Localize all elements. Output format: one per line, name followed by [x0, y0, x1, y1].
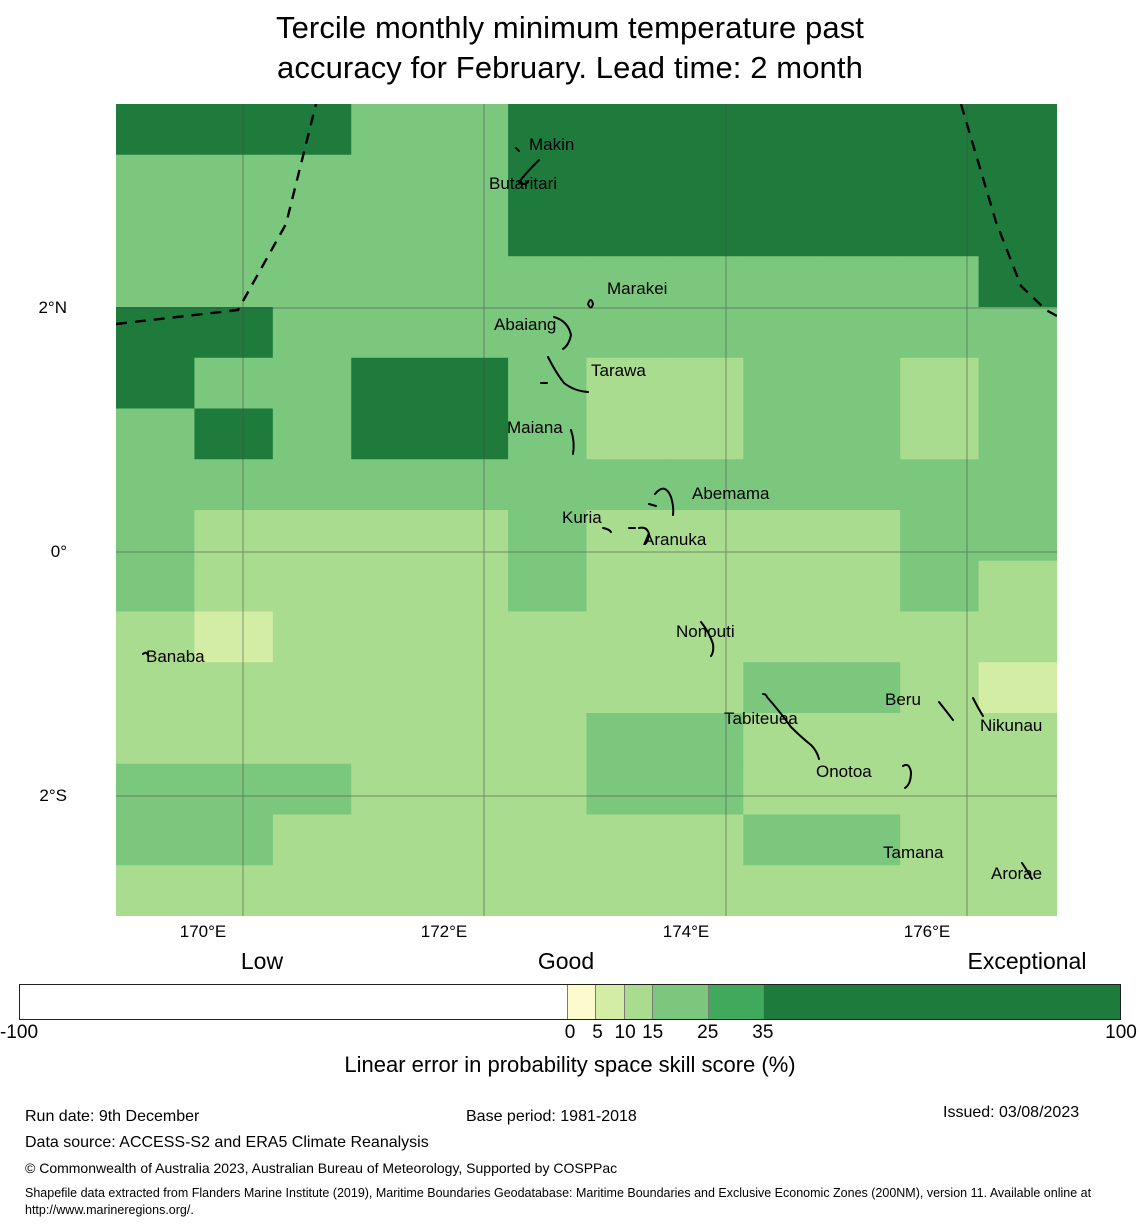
heatmap-cell [351, 764, 430, 815]
heatmap-cell [743, 104, 822, 155]
heatmap-cell [822, 104, 901, 155]
heatmap-cell [743, 510, 822, 561]
heatmap-cell [194, 358, 273, 409]
heatmap-cell [743, 409, 822, 460]
heatmap-cell [273, 815, 352, 866]
island-label-tarawa: Tarawa [591, 361, 646, 380]
island-label-nikunau: Nikunau [980, 716, 1042, 735]
heatmap-cell [273, 865, 352, 916]
island-label-makin: Makin [529, 135, 574, 154]
heatmap-cell [194, 510, 273, 561]
heatmap-cell [508, 662, 587, 713]
island-label-marakei: Marakei [607, 279, 667, 298]
heatmap-cell [587, 459, 666, 510]
issued-date-text: Issued: 03/08/2023 [943, 1104, 1079, 1122]
colorbar-tick-labels: -1000510152535100 [0, 1022, 1140, 1046]
heatmap-cell [743, 307, 822, 358]
heatmap-cell [822, 256, 901, 307]
heatmap-cell [822, 409, 901, 460]
heatmap-cell [587, 409, 666, 460]
colorbar-segment-10-15 [624, 985, 652, 1019]
heatmap-cell [273, 358, 352, 409]
heatmap-cell [351, 612, 430, 663]
heatmap-cell [508, 561, 587, 612]
colorbar-category-good: Good [446, 948, 686, 975]
heatmap-cell [273, 459, 352, 510]
heatmap-cell [743, 561, 822, 612]
heatmap-cell [194, 865, 273, 916]
heatmap-cell [979, 104, 1057, 155]
heatmap-cell [194, 206, 273, 257]
heatmap-cell [430, 256, 509, 307]
heatmap-cell [116, 256, 195, 307]
heatmap-cell [587, 561, 666, 612]
heatmap-cell [979, 307, 1057, 358]
footer-row-2: Data source: ACCESS-S2 and ERA5 Climate … [0, 1134, 1140, 1160]
heatmap-cell [116, 358, 195, 409]
heatmap-cell [351, 409, 430, 460]
heatmap-cell [116, 459, 195, 510]
heatmap-cell [822, 612, 901, 663]
colorbar-tick-100: 100 [1061, 1022, 1140, 1044]
xtick-label-172e: 172°E [384, 922, 504, 942]
heatmap-cell [116, 409, 195, 460]
heatmap-cell [822, 155, 901, 206]
heatmap-cell [430, 815, 509, 866]
heatmap-cell [273, 409, 352, 460]
heatmap-cell [273, 256, 352, 307]
island-label-abemama: Abemama [692, 484, 770, 503]
heatmap-cell [116, 561, 195, 612]
heatmap-cell [665, 104, 744, 155]
title-line-1: Tercile monthly minimum temperature past [0, 8, 1140, 48]
heatmap-cell [116, 662, 195, 713]
heatmap-cell [822, 206, 901, 257]
heatmap-cell [430, 561, 509, 612]
heatmap-cell [273, 155, 352, 206]
colorbar-axis-title: Linear error in probability space skill … [0, 1052, 1140, 1078]
copyright-text: © Commonwealth of Australia 2023, Austra… [25, 1160, 617, 1176]
heatmap-cell [508, 865, 587, 916]
heatmap-cell [979, 612, 1057, 663]
heatmap-cell [822, 358, 901, 409]
heatmap-cell [430, 612, 509, 663]
heatmap-cell [194, 612, 273, 663]
heatmap-cell [665, 865, 744, 916]
heatmap-cell [273, 662, 352, 713]
heatmap-cell [979, 358, 1057, 409]
skill-score-heatmap: MakinButaritariMarakeiAbaiangTarawaMaian… [116, 104, 1057, 916]
footer-row-3: © Commonwealth of Australia 2023, Austra… [0, 1160, 1140, 1186]
heatmap-cell [194, 713, 273, 764]
shapefile-attribution-text: Shapefile data extracted from Flanders M… [25, 1185, 1130, 1219]
heatmap-cell [194, 459, 273, 510]
heatmap-cell [822, 713, 901, 764]
heatmap-cell [273, 713, 352, 764]
island-label-maiana: Maiana [507, 418, 563, 437]
heatmap-cell [430, 510, 509, 561]
heatmap-cell [665, 155, 744, 206]
heatmap-cell [194, 307, 273, 358]
colorbar[interactable] [19, 984, 1121, 1020]
heatmap-cell [508, 815, 587, 866]
heatmap-cell [665, 764, 744, 815]
colorbar-segment--100-0 [20, 985, 567, 1019]
heatmap-cell [116, 865, 195, 916]
heatmap-cell [743, 815, 822, 866]
island-label-arorae: Arorae [991, 864, 1042, 883]
footer-row-1: Run date: 9th December Base period: 1981… [0, 1108, 1140, 1134]
heatmap-cell [351, 713, 430, 764]
heatmap-cell [273, 612, 352, 663]
heatmap-cell [508, 612, 587, 663]
heatmap-cell [665, 561, 744, 612]
heatmap-cell [743, 662, 822, 713]
heatmap-cell [743, 865, 822, 916]
heatmap-cell [116, 307, 195, 358]
heatmap-cell [351, 206, 430, 257]
heatmap-cell [116, 713, 195, 764]
heatmap-cell [351, 459, 430, 510]
colorbar-category-exceptional: Exceptional [907, 948, 1140, 975]
heatmap-cell [979, 155, 1057, 206]
heatmap-cell [508, 256, 587, 307]
heatmap-cell [587, 764, 666, 815]
heatmap-cell [587, 662, 666, 713]
colorbar-category-labels: Low Good Exceptional [0, 948, 1140, 978]
base-period-text: Base period: 1981-2018 [466, 1108, 637, 1126]
heatmap-cell [665, 206, 744, 257]
island-label-tamana: Tamana [883, 843, 944, 862]
heatmap-cell [665, 307, 744, 358]
heatmap-cell [351, 865, 430, 916]
island-label-butaritari: Butaritari [489, 174, 557, 193]
heatmap-cell [979, 409, 1057, 460]
heatmap-cell [587, 815, 666, 866]
colorbar-tick--100: -100 [0, 1022, 79, 1044]
heatmap-cell [430, 459, 509, 510]
heatmap-cell [508, 764, 587, 815]
colorbar-category-low: Low [142, 948, 382, 975]
data-source-text: Data source: ACCESS-S2 and ERA5 Climate … [25, 1134, 429, 1152]
heatmap-cell [194, 561, 273, 612]
heatmap-cell [116, 764, 195, 815]
heatmap-cell [587, 206, 666, 257]
heatmap-cell [743, 612, 822, 663]
heatmap-cell [194, 662, 273, 713]
heatmap-cell [979, 206, 1057, 257]
colorbar-segment-35-100 [763, 985, 1120, 1019]
heatmap-cell [743, 256, 822, 307]
heatmap-cell [587, 307, 666, 358]
heatmap-cell [116, 206, 195, 257]
run-date-text: Run date: 9th December [25, 1108, 199, 1126]
island-label-aranuka: Aranuka [643, 530, 707, 549]
heatmap-cell [508, 713, 587, 764]
heatmap-cell [116, 510, 195, 561]
island-label-onotoa: Onotoa [816, 762, 872, 781]
page-title: Tercile monthly minimum temperature past… [0, 8, 1140, 88]
heatmap-cell [743, 358, 822, 409]
heatmap-cell [587, 155, 666, 206]
heatmap-cell [587, 612, 666, 663]
footer: Run date: 9th December Base period: 1981… [0, 1108, 1140, 1186]
heatmap-cell [351, 561, 430, 612]
heatmap-cell [979, 256, 1057, 307]
heatmap-cell [116, 815, 195, 866]
xtick-label-174e: 174°E [626, 922, 746, 942]
heatmap-cell [430, 865, 509, 916]
title-line-2: accuracy for February. Lead time: 2 mont… [0, 48, 1140, 88]
heatmap-cell [665, 256, 744, 307]
map-plot-area[interactable]: MakinButaritariMarakeiAbaiangTarawaMaian… [116, 104, 1057, 916]
heatmap-cell [273, 764, 352, 815]
heatmap-cell [508, 206, 587, 257]
colorbar-segment-25-35 [708, 985, 764, 1019]
heatmap-cell [194, 764, 273, 815]
heatmap-cell [351, 510, 430, 561]
heatmap-cell [194, 815, 273, 866]
heatmap-cell [430, 358, 509, 409]
heatmap-cell [743, 206, 822, 257]
island-label-tabiteuea: Tabiteuea [724, 709, 798, 728]
heatmap-cell [351, 815, 430, 866]
heatmap-cell [979, 662, 1057, 713]
heatmap-cell [665, 662, 744, 713]
heatmap-cell [351, 256, 430, 307]
heatmap-cell [194, 256, 273, 307]
island-label-kuria: Kuria [562, 508, 602, 527]
heatmap-cell [351, 155, 430, 206]
ytick-label-0: 0° [0, 542, 67, 562]
heatmap-cell [194, 104, 273, 155]
heatmap-cell [508, 459, 587, 510]
heatmap-cell [979, 764, 1057, 815]
heatmap-cell [665, 358, 744, 409]
heatmap-cell [116, 155, 195, 206]
island-label-abaiang: Abaiang [494, 315, 556, 334]
ytick-label-2s: 2°S [0, 786, 67, 806]
heatmap-cell [822, 561, 901, 612]
heatmap-cell [430, 104, 509, 155]
heatmap-cell [822, 865, 901, 916]
heatmap-cell [979, 561, 1057, 612]
xtick-label-170e: 170°E [143, 922, 263, 942]
heatmap-cell [822, 459, 901, 510]
heatmap-cell [194, 155, 273, 206]
heatmap-cell [430, 713, 509, 764]
heatmap-cell [743, 764, 822, 815]
heatmap-cell [430, 764, 509, 815]
heatmap-cell [587, 713, 666, 764]
heatmap-cell [979, 459, 1057, 510]
heatmap-cell [665, 409, 744, 460]
island-label-beru: Beru [885, 690, 921, 709]
colorbar-segment-15-25 [652, 985, 708, 1019]
heatmap-cell [587, 104, 666, 155]
heatmap-cell [273, 104, 352, 155]
colorbar-tick-35: 35 [703, 1022, 823, 1044]
island-label-nonouti: Nonouti [676, 622, 735, 641]
heatmap-cell [351, 104, 430, 155]
heatmap-cell [430, 662, 509, 713]
heatmap-cell [351, 358, 430, 409]
heatmap-cell [273, 206, 352, 257]
heatmap-cell [116, 104, 195, 155]
heatmap-cell [979, 815, 1057, 866]
heatmap-cell [665, 815, 744, 866]
island-label-banaba: Banaba [146, 647, 205, 666]
colorbar-segment-0-5 [567, 985, 595, 1019]
heatmap-cell [822, 510, 901, 561]
heatmap-cell [430, 409, 509, 460]
heatmap-cell [822, 307, 901, 358]
xtick-label-176e: 176°E [867, 922, 987, 942]
heatmap-cell [430, 206, 509, 257]
heatmap-cell [743, 155, 822, 206]
heatmap-cell [273, 561, 352, 612]
heatmap-cell [273, 510, 352, 561]
heatmap-cell [979, 510, 1057, 561]
heatmap-cell [351, 307, 430, 358]
heatmap-cell [194, 409, 273, 460]
ytick-label-2n: 2°N [0, 298, 67, 318]
heatmap-cell [587, 865, 666, 916]
heatmap-cell [351, 662, 430, 713]
colorbar-segment-5-10 [595, 985, 623, 1019]
heatmap-cell [273, 307, 352, 358]
